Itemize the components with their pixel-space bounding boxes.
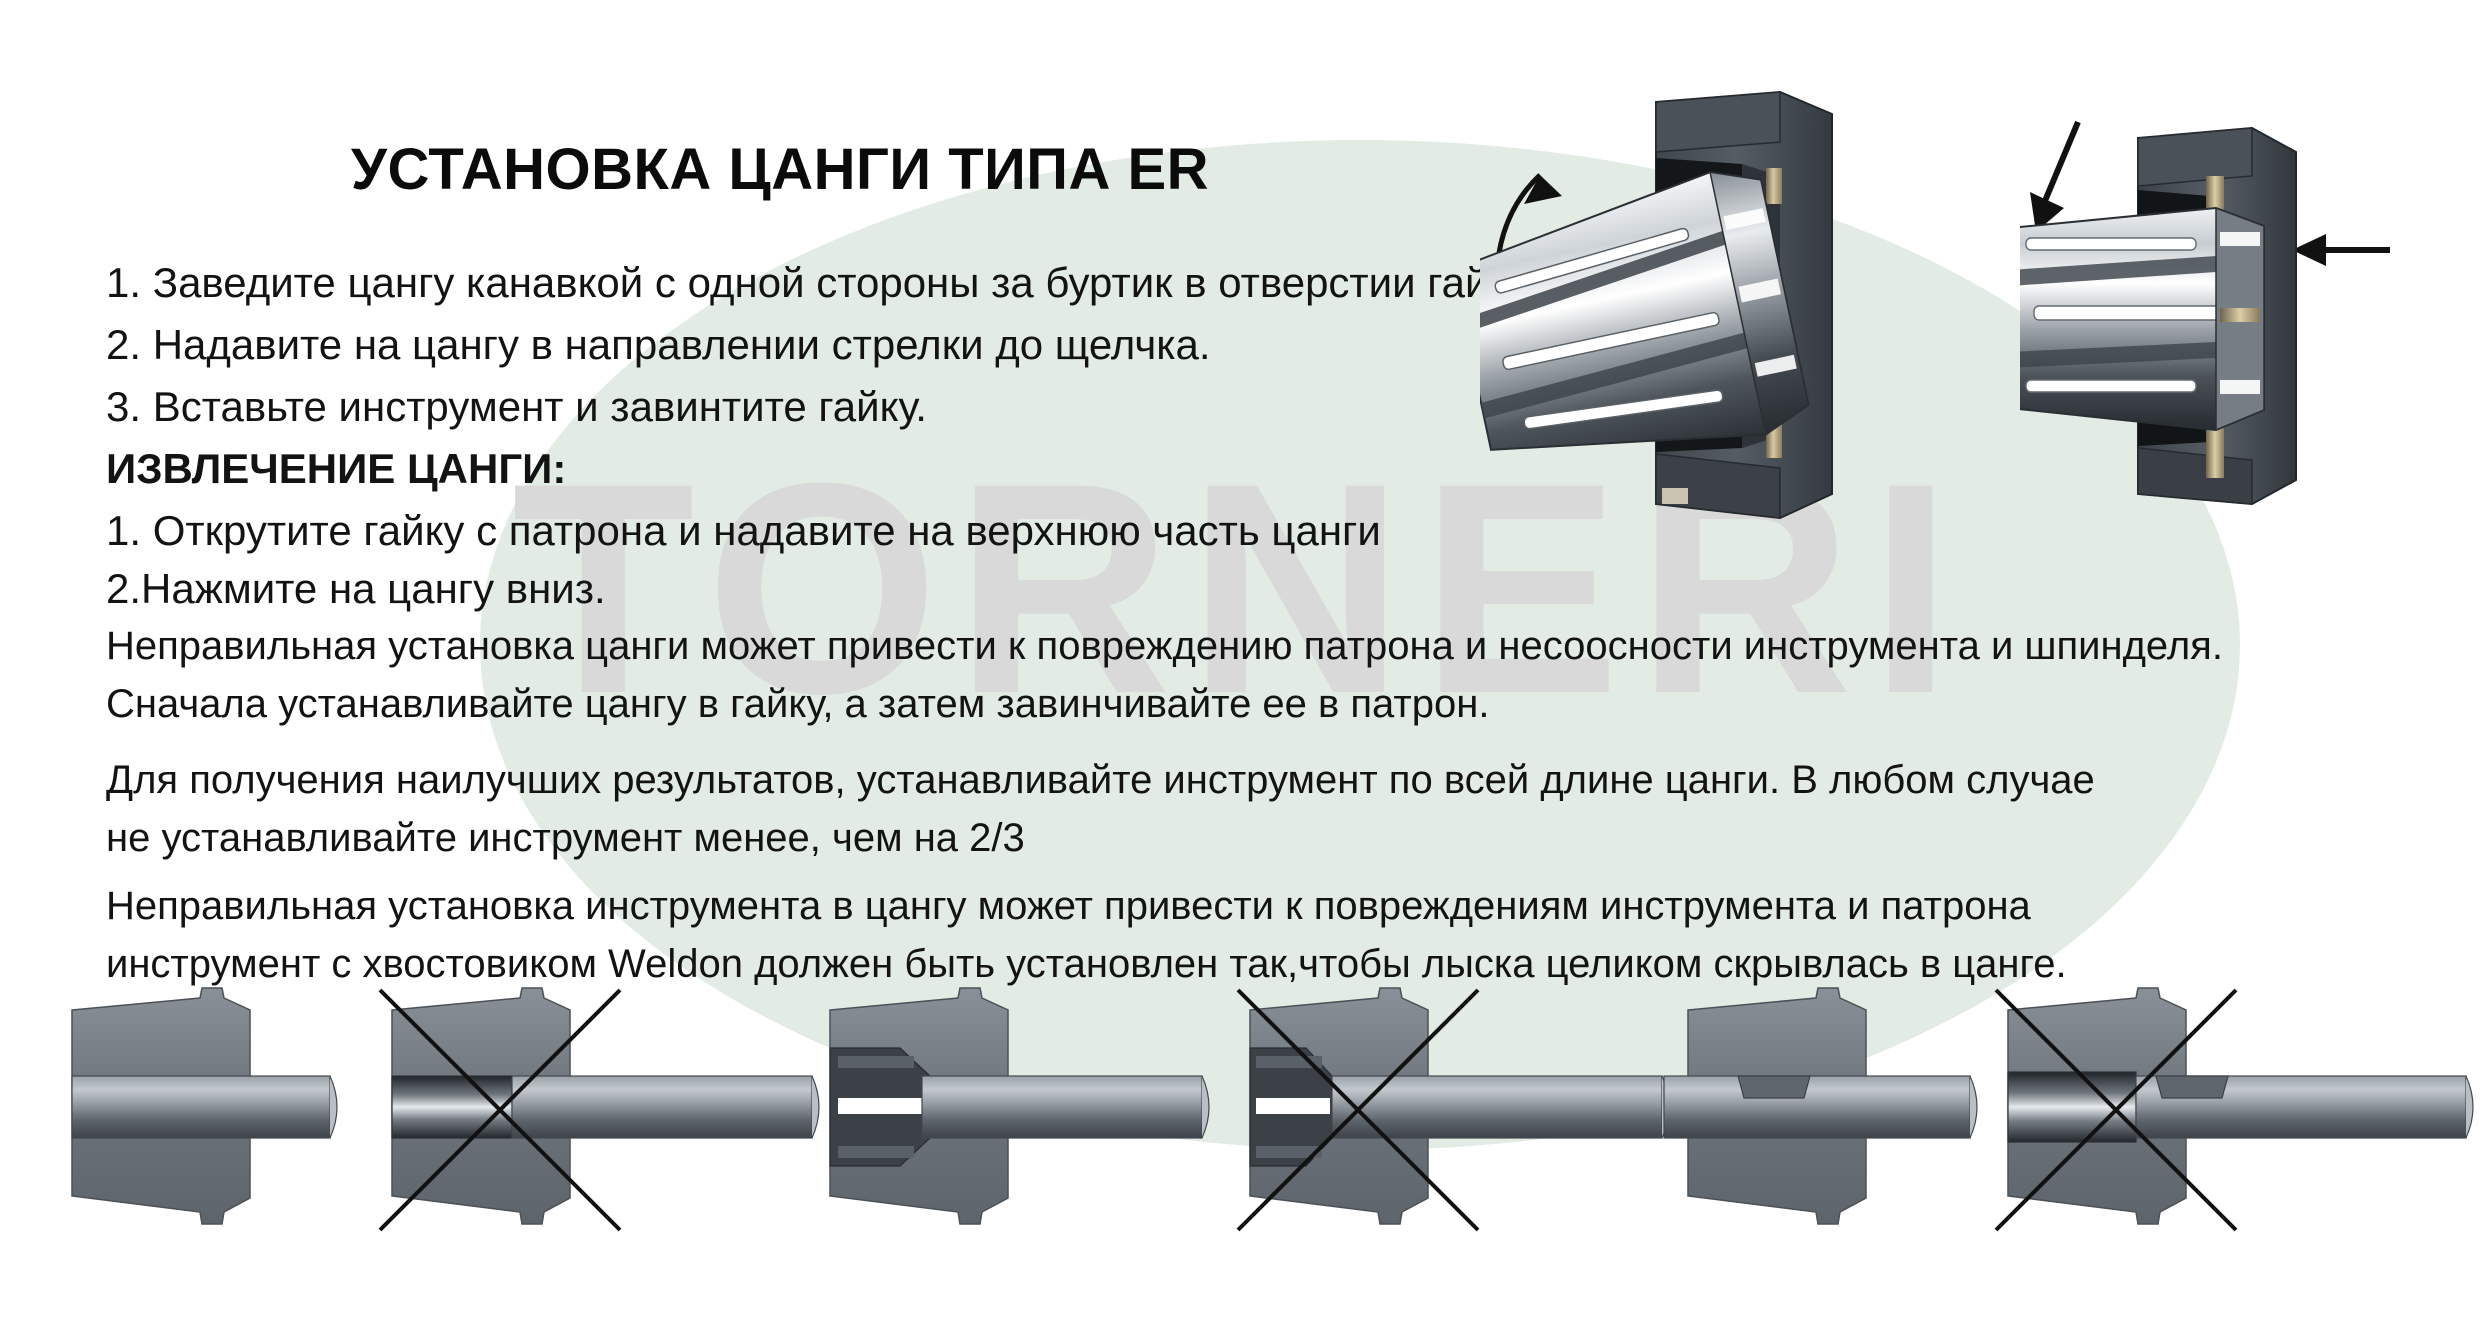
warning-1-line-2: Сначала устанавливайте цангу в гайку, а … — [106, 680, 1489, 729]
removal-step-2: 2.Нажмите на цангу вниз. — [106, 566, 606, 612]
example-6-weldon-flat-exposed-wrong — [1996, 988, 2473, 1230]
install-step-3: 3. Вставьте инструмент и завинтите гайку… — [106, 384, 927, 430]
warning-2-line-2: не устанавливайте инструмент менее, чем … — [106, 814, 1025, 863]
example-2-tool-shallow-insert-wrong — [380, 988, 819, 1230]
warning-2-line-1: Для получения наилучших результатов, уст… — [106, 756, 2095, 805]
page-title: УСТАНОВКА ЦАНГИ ТИПА ER — [0, 136, 1560, 203]
warning-3-line-1: Неправильная установка инструмента в цан… — [106, 882, 2031, 931]
diagonal-arrow-icon — [2030, 122, 2078, 232]
example-3-tool-deep-insert-correct — [830, 988, 1209, 1224]
illustration-collet-seated-in-nut — [2020, 80, 2480, 580]
install-step-2: 2. Надавите на цангу в направлении стрел… — [106, 322, 1211, 368]
install-step-1: 1. Заведите цангу канавкой с одной сторо… — [106, 260, 1530, 306]
removal-heading: ИЗВЛЕЧЕНИЕ ЦАНГИ: — [106, 446, 566, 492]
illustration-collet-entering-nut — [1480, 80, 2020, 580]
example-1-tool-full-length-correct — [72, 988, 337, 1224]
er-collet-seated — [2020, 208, 2264, 430]
tool-insertion-examples — [0, 980, 2480, 1342]
warning-1-line-1: Неправильная установка цанги может приве… — [106, 622, 2223, 671]
example-5-weldon-flat-hidden-correct — [1664, 988, 1977, 1224]
horizontal-arrow-icon — [2292, 234, 2390, 266]
poster-canvas: TORNERI УСТАНОВКА ЦАНГИ ТИПА ER 1. Завед… — [0, 0, 2480, 1342]
example-4-tool-partial-insert-wrong — [1238, 988, 1669, 1230]
removal-step-1: 1. Открутите гайку с патрона и надавите … — [106, 508, 1381, 554]
